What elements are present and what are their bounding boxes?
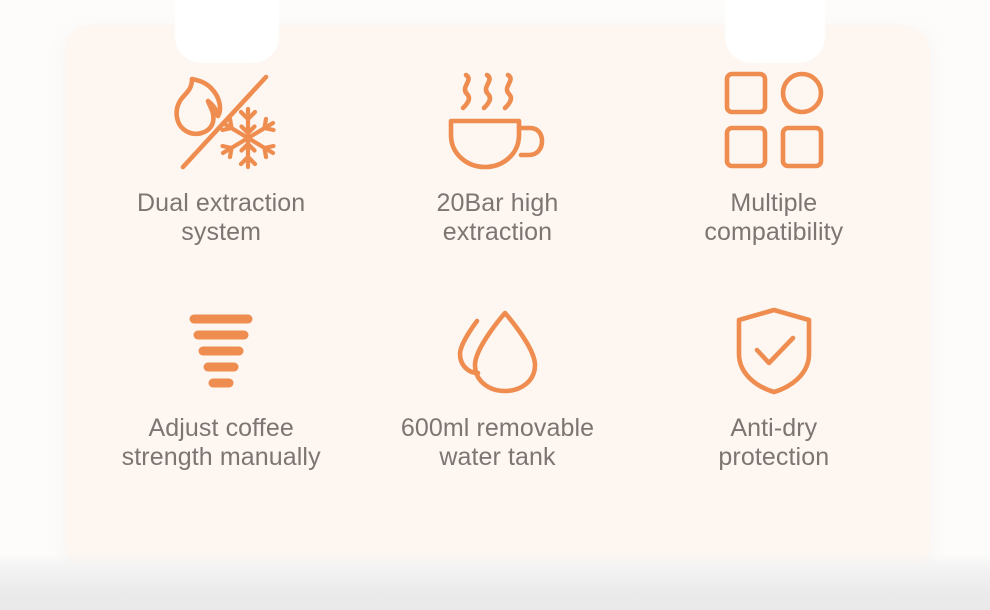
feature-item-anti-dry-protection: Anti-dry protection [636, 296, 912, 525]
feature-item-multiple-compatibility: Multiple compatibility [636, 67, 912, 296]
feature-label: 600ml removable water tank [401, 414, 594, 472]
water-droplets-icon [447, 306, 547, 396]
strength-bars-funnel-icon [188, 306, 254, 396]
bottom-gray-band [0, 568, 990, 610]
feature-grid: Dual extraction system 20B [65, 25, 930, 570]
feature-panel-stage: Dual extraction system 20B [0, 0, 990, 610]
feature-item-20bar-high-extraction: 20Bar high extraction [359, 67, 635, 296]
feature-label: Anti-dry protection [718, 414, 829, 472]
feature-item-dual-extraction: Dual extraction system [83, 67, 359, 296]
grid-shapes-icon [724, 67, 824, 175]
feature-item-removable-water-tank: 600ml removable water tank [359, 296, 635, 525]
product-feature-card: Dual extraction system 20B [65, 25, 930, 570]
steaming-coffee-cup-icon [441, 67, 553, 175]
feature-item-adjust-coffee-strength: Adjust coffee strength manually [83, 296, 359, 525]
feature-label: Adjust coffee strength manually [122, 414, 321, 472]
feature-label: 20Bar high extraction [437, 189, 559, 247]
feature-label: Multiple compatibility [704, 189, 843, 247]
feature-label: Dual extraction system [137, 189, 305, 247]
shield-check-icon [733, 306, 815, 396]
flame-snowflake-icon [152, 67, 290, 175]
